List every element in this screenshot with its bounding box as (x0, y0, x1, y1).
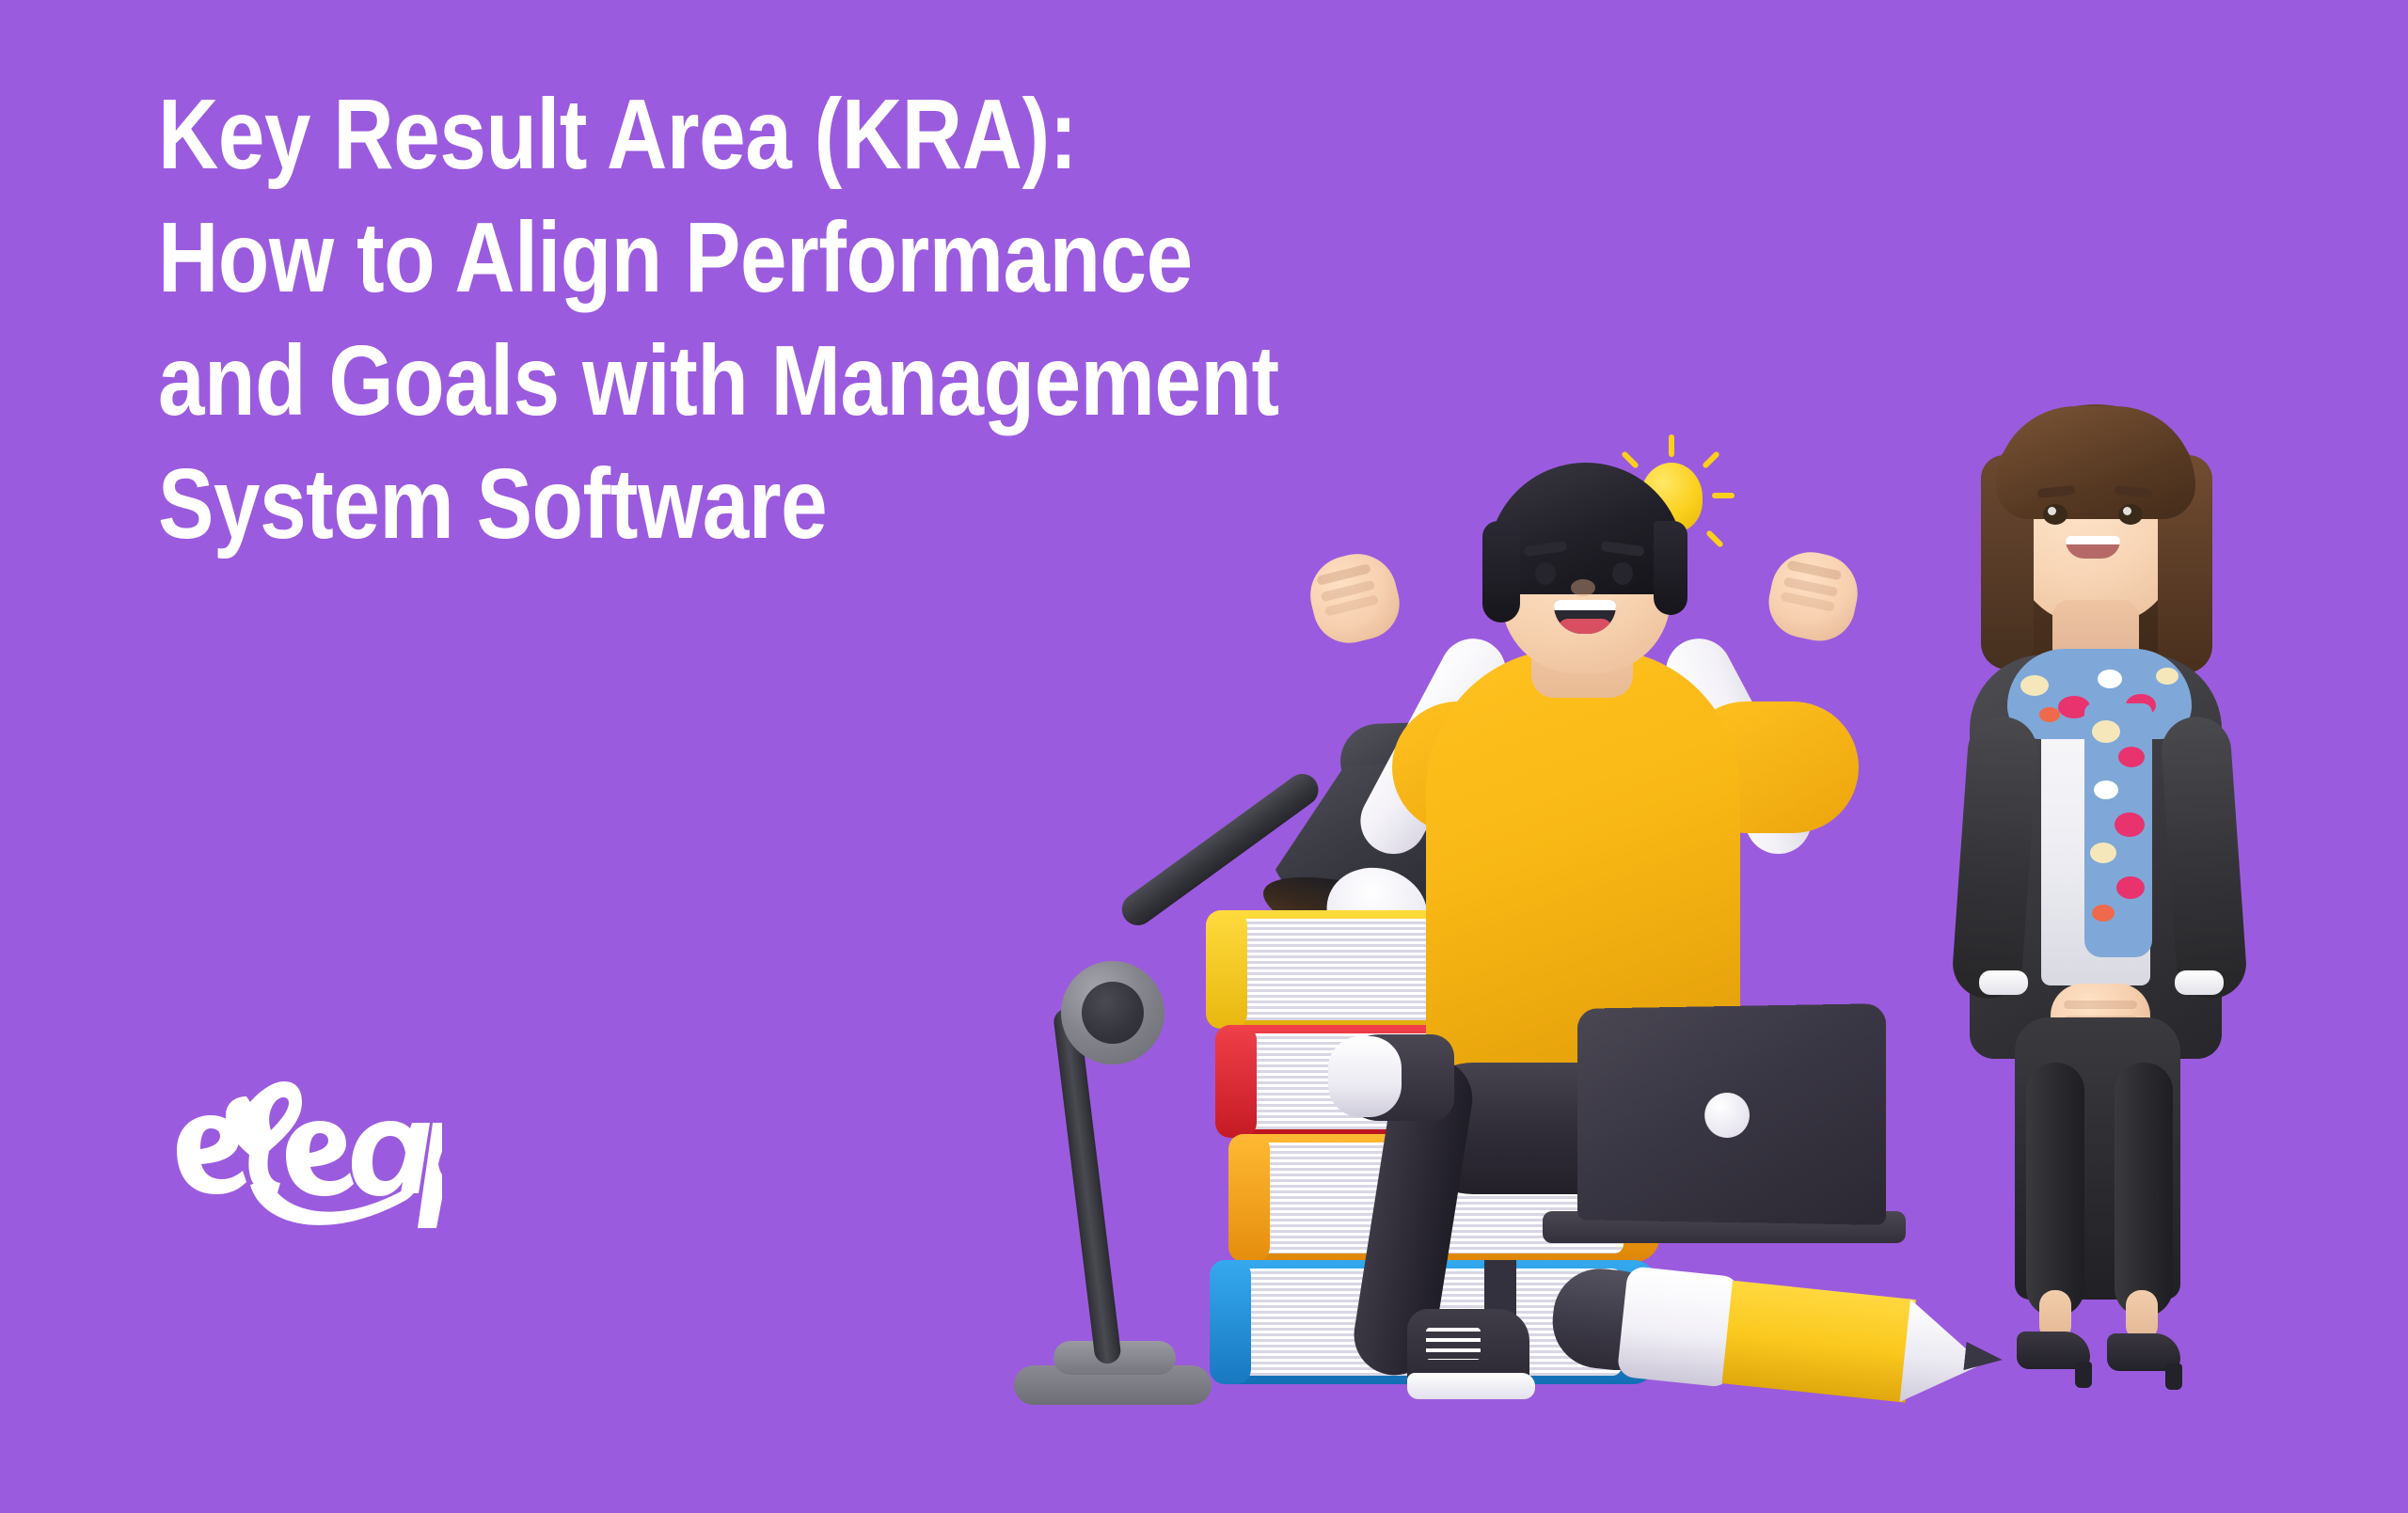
scarf-dot (2092, 905, 2115, 922)
lamp-joint (1061, 961, 1164, 1064)
right-leg (2115, 1063, 2173, 1316)
left-heel (2075, 1362, 2092, 1388)
left-leg (2026, 1063, 2084, 1316)
bulb-ray (1702, 450, 1720, 469)
scarf-dot (2115, 812, 2145, 837)
sneaker-toe (1328, 1036, 1402, 1117)
shoe-laces (1426, 1328, 1481, 1360)
title-line-2: How to Align Performance (158, 197, 1390, 320)
right-eye (2118, 504, 2143, 525)
eleap-logo[interactable] (160, 1061, 442, 1230)
scarf-dot (2090, 843, 2116, 863)
bulb-ray (1669, 434, 1674, 457)
scarf-dot (2020, 675, 2049, 696)
hair-front (1996, 406, 2195, 519)
title-line-1: Key Result Area (KRA): (158, 73, 1390, 197)
scarf-dot (2039, 707, 2060, 722)
scarf-dot (2098, 670, 2122, 688)
banner-canvas: Key Result Area (KRA): How to Align Perf… (0, 0, 2408, 1513)
shoe-sole (1407, 1373, 1535, 1399)
hero-illustration (959, 414, 2295, 1429)
scarf-dot (2116, 876, 2145, 899)
page-title: Key Result Area (KRA): How to Align Perf… (158, 73, 1625, 566)
laptop-logo-icon (1704, 1093, 1750, 1138)
mouth (1554, 600, 1616, 634)
laptop-icon (1577, 1003, 1886, 1225)
right-cuff (2175, 970, 2224, 995)
scarf-dot (2156, 668, 2178, 685)
right-heel (2165, 1363, 2182, 1390)
businesswoman-character (1909, 386, 2286, 1411)
scarf-dot (2092, 720, 2120, 743)
scarf-dot (2094, 780, 2118, 799)
left-eye (2043, 504, 2067, 525)
scarf-dot (2118, 747, 2145, 767)
bulb-ray (1712, 493, 1735, 498)
left-cuff (1979, 970, 2028, 995)
mouth (2066, 536, 2120, 559)
title-line-4: System Software (158, 443, 1390, 566)
right-fist (1762, 544, 1864, 647)
nose (1571, 579, 1595, 596)
bulb-ray (1705, 529, 1724, 548)
scarf-tail (2084, 703, 2152, 957)
title-line-3: and Goals with Management (158, 320, 1390, 443)
